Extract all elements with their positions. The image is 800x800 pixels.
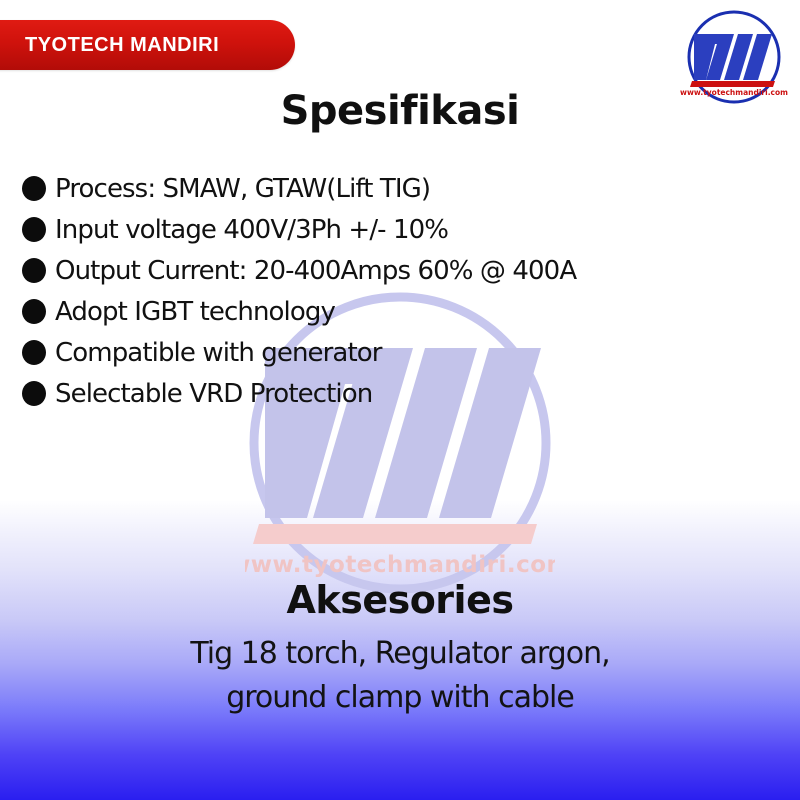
spec-item-label: Output Current: 20-400Amps 60% @ 400A <box>55 256 576 286</box>
accessories-line: Tig 18 torch, Regulator argon, <box>0 632 800 676</box>
bullet-icon <box>22 258 46 283</box>
list-item: Selectable VRD Protection <box>22 373 742 414</box>
list-item: Process: SMAW, GTAW(Lift TIG) <box>22 168 742 209</box>
accessories-text: Tig 18 torch, Regulator argon, ground cl… <box>0 632 800 720</box>
accessories-line: ground clamp with cable <box>0 676 800 720</box>
spec-list: Process: SMAW, GTAW(Lift TIG) Input volt… <box>22 168 742 414</box>
bullet-icon <box>22 217 46 242</box>
bullet-icon <box>22 176 46 201</box>
list-item: Input voltage 400V/3Ph +/- 10% <box>22 209 742 250</box>
accessories-heading: Aksesories <box>0 578 800 622</box>
brand-badge-label: TYOTECH MANDIRI <box>25 34 219 57</box>
spec-item-label: Input voltage 400V/3Ph +/- 10% <box>55 215 448 245</box>
list-item: Adopt IGBT technology <box>22 291 742 332</box>
spec-item-label: Compatible with generator <box>55 338 382 368</box>
spec-item-label: Selectable VRD Protection <box>55 379 372 409</box>
bullet-icon <box>22 381 46 406</box>
spec-item-label: Adopt IGBT technology <box>55 297 335 327</box>
spec-item-label: Process: SMAW, GTAW(Lift TIG) <box>55 174 430 204</box>
list-item: Compatible with generator <box>22 332 742 373</box>
spec-heading: Spesifikasi <box>0 88 800 134</box>
list-item: Output Current: 20-400Amps 60% @ 400A <box>22 250 742 291</box>
spec-sheet-page: www.tyotechmandiri.com TYOTECH MANDIRI w… <box>0 0 800 800</box>
bullet-icon <box>22 299 46 324</box>
bullet-icon <box>22 340 46 365</box>
brand-badge: TYOTECH MANDIRI <box>0 20 295 70</box>
